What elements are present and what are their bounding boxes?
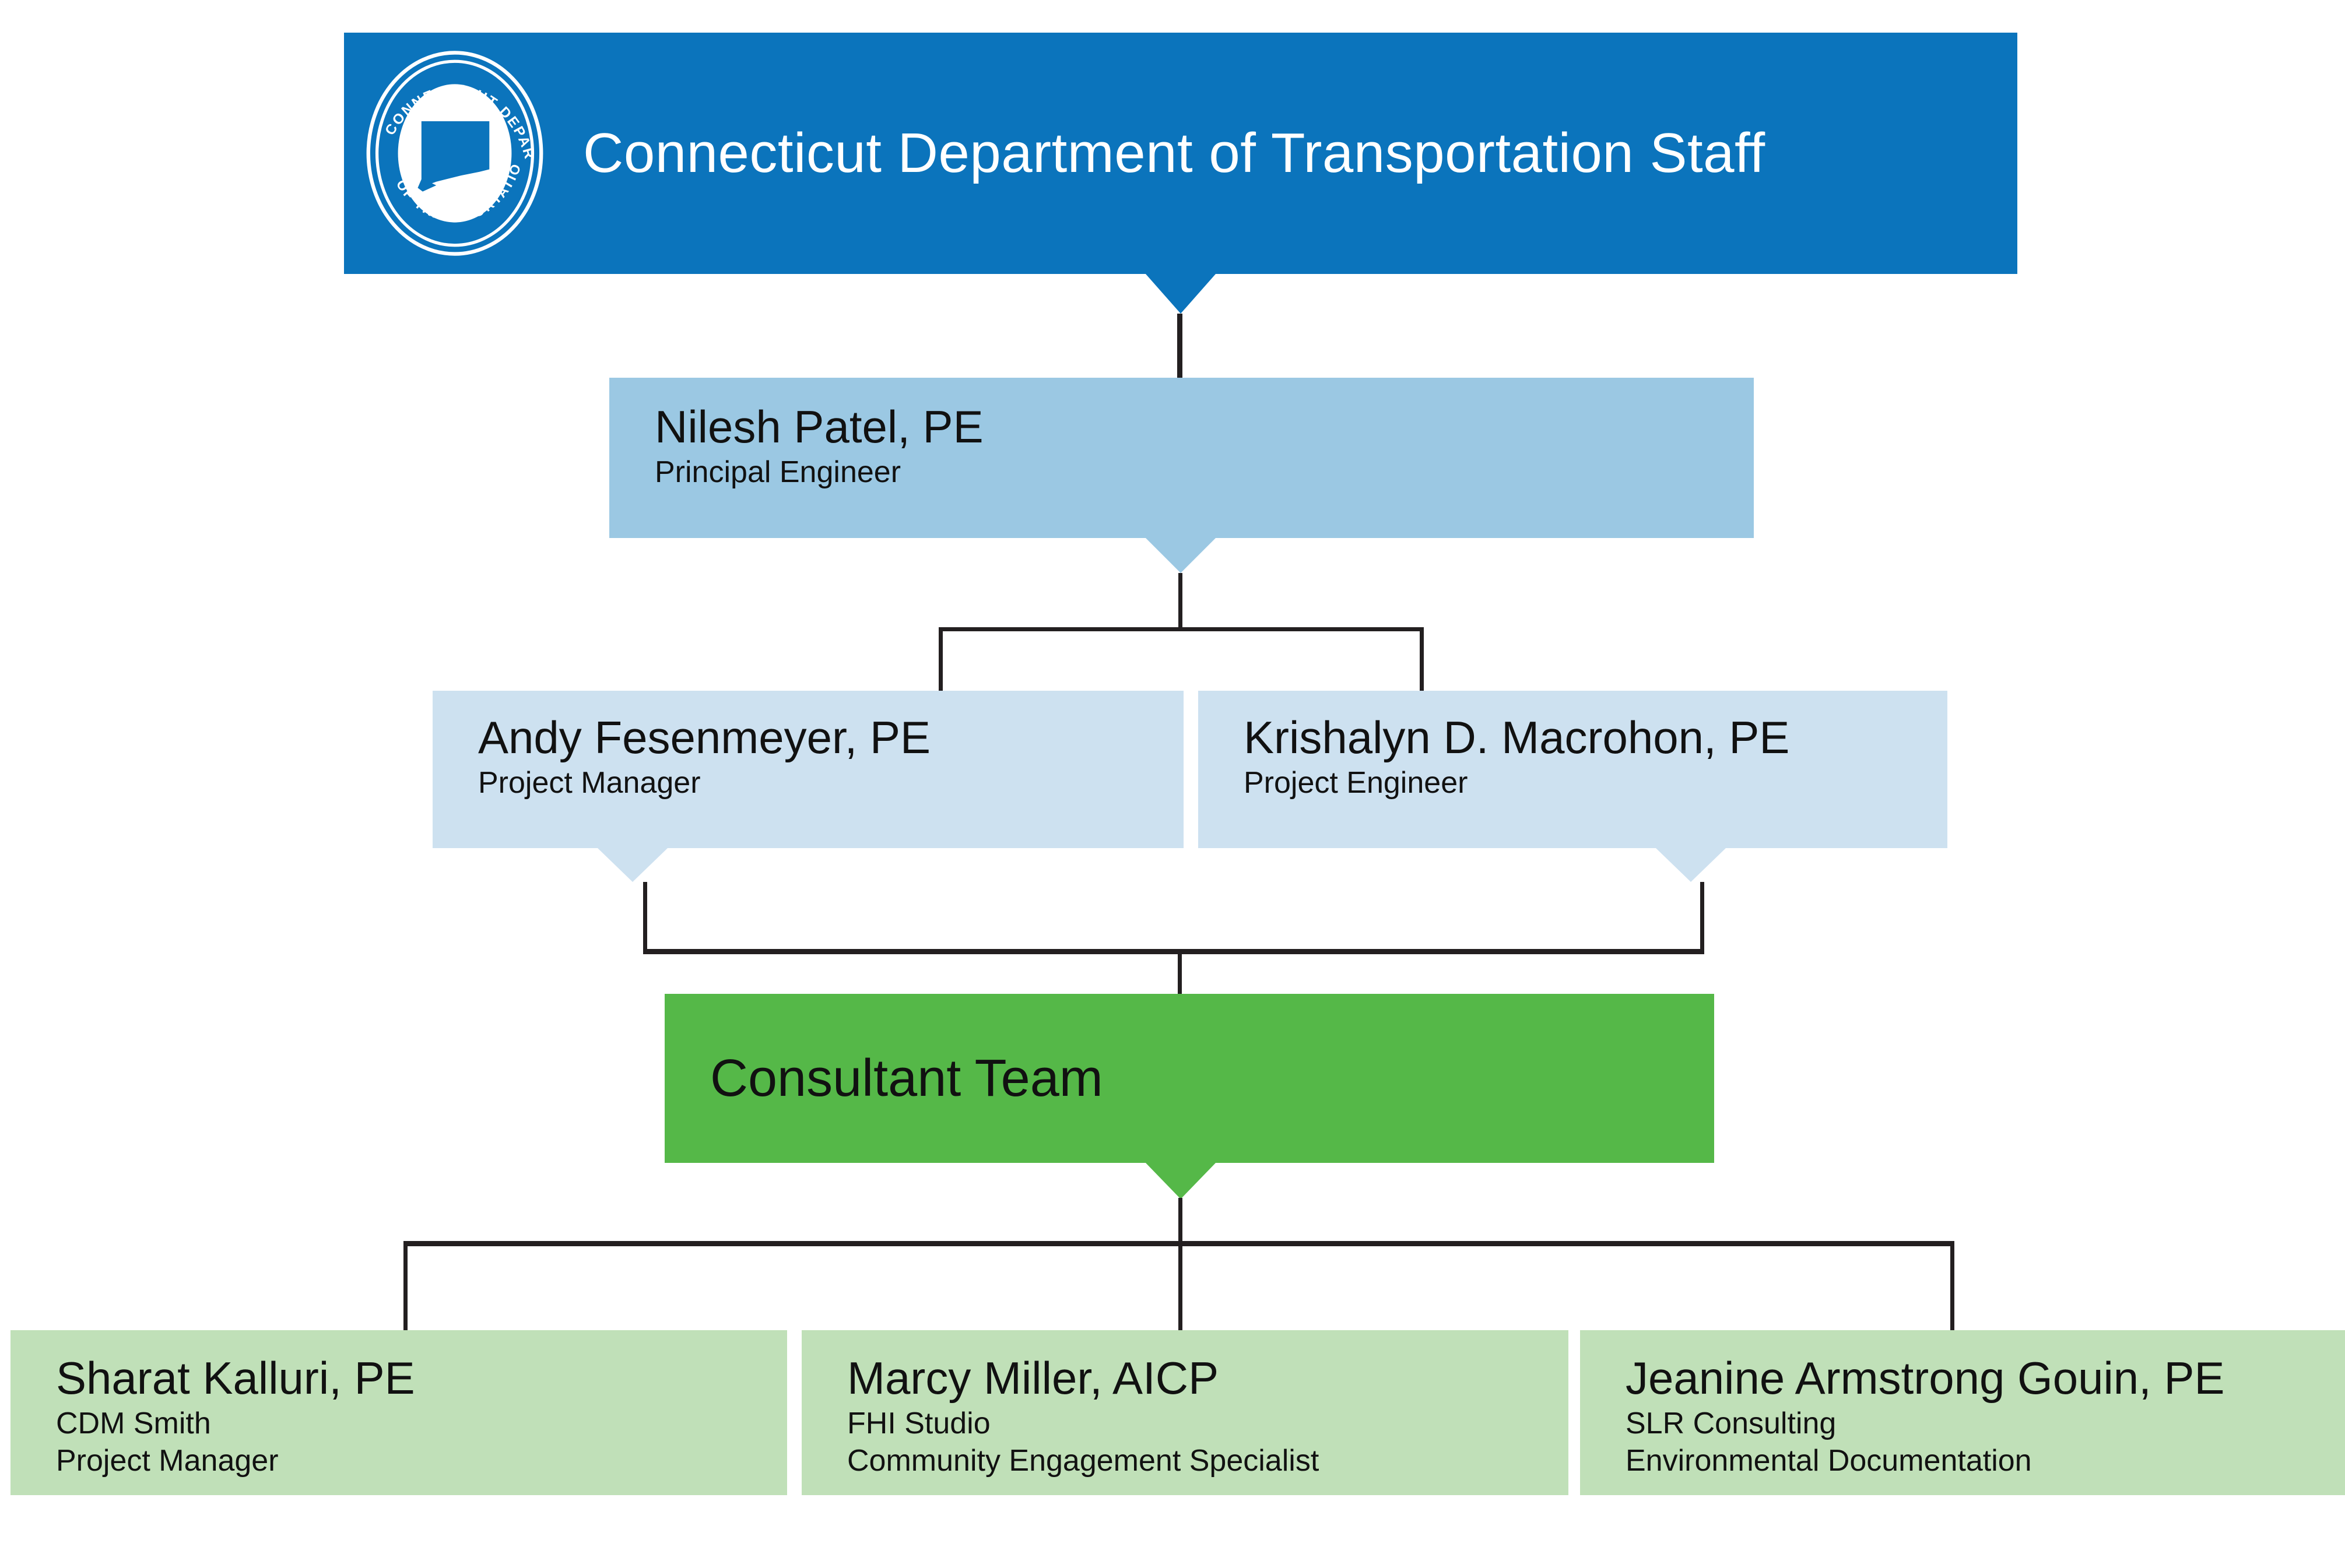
node-role: Principal Engineer xyxy=(655,454,1754,491)
header-title: Connecticut Department of Transportation… xyxy=(583,121,1765,185)
connector-header-to-lvl2 xyxy=(1177,314,1182,379)
node-andy-fesenmeyer: Andy Fesenmeyer, PE Project Manager xyxy=(433,691,1184,848)
lvl3-right-arrow-notch xyxy=(1656,848,1726,882)
node-consultant-team: Consultant Team xyxy=(665,994,1714,1163)
node-role: Environmental Documentation xyxy=(1626,1443,2345,1479)
connector-lvl3-right-drop xyxy=(1420,627,1424,691)
org-chart: CONNECTICUT DEPARTMENT OF TRANSPORTATION… xyxy=(0,0,2345,1568)
node-role: Project Engineer xyxy=(1244,765,1947,801)
ct-dot-seal-icon: CONNECTICUT DEPARTMENT OF TRANSPORTATION xyxy=(361,48,548,258)
node-name: Jeanine Armstrong Gouin, PE xyxy=(1626,1355,2345,1402)
connector-team-drop xyxy=(1178,949,1182,997)
connector-leaf-2-drop xyxy=(1950,1241,1954,1331)
node-firm: CDM Smith xyxy=(56,1405,787,1442)
team-label: Consultant Team xyxy=(710,1049,1103,1109)
node-firm: SLR Consulting xyxy=(1626,1405,2345,1442)
connector-lvl3-bus xyxy=(939,627,1424,631)
node-marcy-miller: Marcy Miller, AICP FHI Studio Community … xyxy=(802,1330,1568,1495)
connector-lvl3-right-riser xyxy=(1700,882,1704,953)
team-arrow-notch xyxy=(1146,1163,1216,1199)
node-firm: FHI Studio xyxy=(847,1405,1568,1442)
header-node-ctdot-staff: CONNECTICUT DEPARTMENT OF TRANSPORTATION… xyxy=(344,33,2017,274)
connector-lvl3-left-riser xyxy=(643,882,647,953)
header-arrow-notch xyxy=(1146,274,1216,314)
node-name: Krishalyn D. Macrohon, PE xyxy=(1244,714,1947,761)
node-name: Nilesh Patel, PE xyxy=(655,403,1754,451)
node-name: Marcy Miller, AICP xyxy=(847,1355,1568,1402)
node-role: Project Manager xyxy=(478,765,1184,801)
node-name: Andy Fesenmeyer, PE xyxy=(478,714,1184,761)
connector-lvl2-drop xyxy=(1178,573,1182,629)
lvl2-arrow-notch xyxy=(1146,538,1216,573)
node-nilesh-patel: Nilesh Patel, PE Principal Engineer xyxy=(609,378,1754,538)
node-role: Project Manager xyxy=(56,1443,787,1479)
node-name: Sharat Kalluri, PE xyxy=(56,1355,787,1402)
node-role: Community Engagement Specialist xyxy=(847,1443,1568,1479)
connector-leaf-0-drop xyxy=(403,1241,408,1331)
node-krishalyn-macrohon: Krishalyn D. Macrohon, PE Project Engine… xyxy=(1198,691,1947,848)
lvl3-left-arrow-notch xyxy=(598,848,668,882)
connector-team-bus xyxy=(643,949,1704,954)
connector-leaf-1-drop xyxy=(1178,1241,1182,1331)
connector-lvl3-left-drop xyxy=(939,627,943,691)
node-sharat-kalluri: Sharat Kalluri, PE CDM Smith Project Man… xyxy=(10,1330,787,1495)
node-jeanine-armstrong-gouin: Jeanine Armstrong Gouin, PE SLR Consulti… xyxy=(1580,1330,2345,1495)
